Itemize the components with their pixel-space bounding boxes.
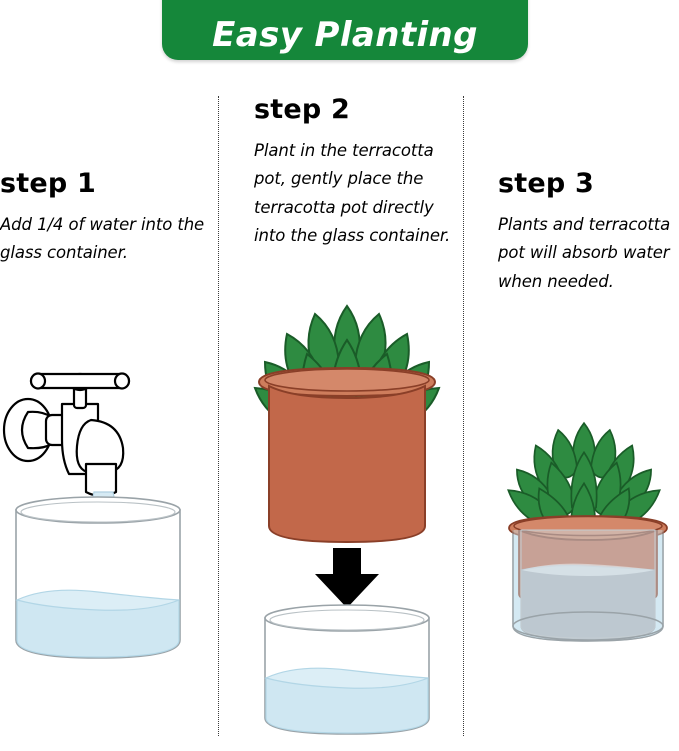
glass-container [16, 497, 180, 658]
faucet-handle-icon [31, 374, 129, 389]
step-1-illustration [0, 368, 198, 746]
step-3-body: Plants and terracotta pot will absorb wa… [498, 211, 679, 296]
glass-walls-overlay [513, 530, 663, 641]
step-3-heading: step 3 [498, 170, 679, 197]
step-2-body: Plant in the terracotta pot, gently plac… [254, 137, 455, 251]
step-2-illustration [247, 296, 447, 746]
step-2-text-block: step 2 Plant in the terracotta pot, gent… [240, 96, 455, 251]
down-arrow-icon [315, 548, 379, 608]
step-2-heading: step 2 [254, 96, 455, 123]
terracotta-pot-icon [259, 368, 435, 542]
glass-container [265, 605, 429, 734]
faucet-icon [4, 374, 123, 496]
step-3-illustration [495, 418, 679, 658]
column-divider-1 [218, 96, 219, 736]
step-3-text-block: step 3 Plants and terracotta pot will ab… [490, 170, 679, 296]
column-divider-2 [463, 96, 464, 736]
header-banner: Easy Planting [162, 0, 528, 60]
step-1-heading: step 1 [0, 170, 210, 197]
step-1-body: Add 1/4 of water into the glass containe… [0, 211, 210, 268]
step-1-text-block: step 1 Add 1/4 of water into the glass c… [0, 170, 210, 268]
page-title: Easy Planting [212, 18, 478, 52]
